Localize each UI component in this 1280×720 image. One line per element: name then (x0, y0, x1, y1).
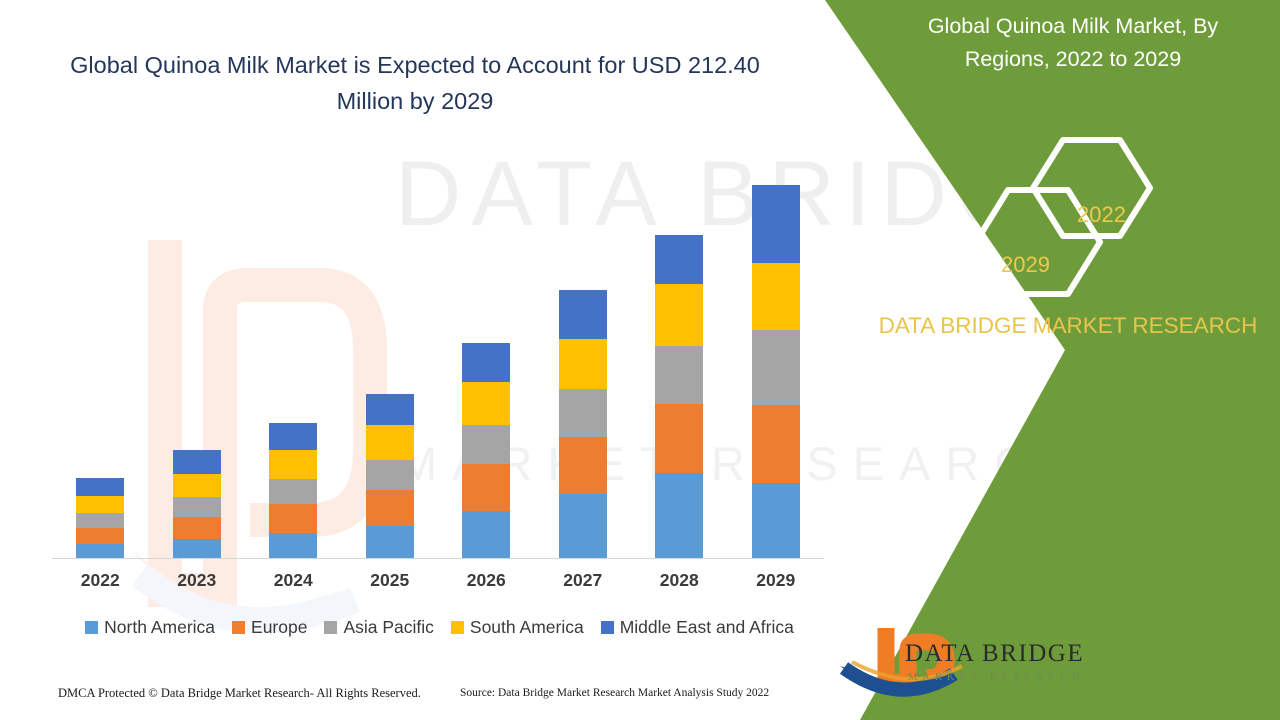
stacked-bar[interactable] (173, 450, 221, 558)
legend-swatch-icon (232, 621, 245, 634)
bar-column (52, 170, 148, 558)
bar-segment[interactable] (366, 425, 414, 460)
bar-segment[interactable] (462, 464, 510, 512)
bar-segment[interactable] (76, 496, 124, 513)
bar-segment[interactable] (462, 382, 510, 425)
page-title: Global Quinoa Milk Market is Expected to… (60, 48, 770, 119)
bar-column (149, 170, 245, 558)
bar-segment[interactable] (366, 394, 414, 425)
bar-segment[interactable] (655, 284, 703, 346)
bar-segment[interactable] (559, 494, 607, 558)
legend-label: North America (104, 617, 215, 638)
bar-segment[interactable] (752, 263, 800, 330)
bar-segment[interactable] (269, 423, 317, 450)
stacked-bar[interactable] (76, 478, 124, 558)
x-axis-label: 2028 (631, 570, 727, 591)
bar-column (438, 170, 534, 558)
legend-label: Asia Pacific (343, 617, 433, 638)
bar-segment[interactable] (173, 539, 221, 558)
chart-legend: North AmericaEuropeAsia PacificSouth Ame… (52, 617, 827, 638)
bar-segment[interactable] (173, 474, 221, 497)
bar-segment[interactable] (752, 483, 800, 558)
bar-segment[interactable] (655, 473, 703, 558)
bar-segment[interactable] (559, 389, 607, 437)
hexagon-badges: 2022 2029 (960, 130, 1180, 300)
bar-segment[interactable] (366, 460, 414, 490)
logo-tagline: MARKET RESEARCH (908, 672, 1085, 683)
hexagon-label-end: 2029 (1001, 252, 1050, 278)
bar-segment[interactable] (173, 517, 221, 539)
x-axis-label: 2026 (438, 570, 534, 591)
bar-segment[interactable] (559, 339, 607, 390)
bar-segment[interactable] (655, 235, 703, 284)
x-axis-label: 2023 (149, 570, 245, 591)
bar-segment[interactable] (76, 528, 124, 544)
bar-segment[interactable] (752, 185, 800, 263)
bar-segment[interactable] (462, 511, 510, 558)
x-axis-label: 2027 (535, 570, 631, 591)
stacked-bar[interactable] (269, 423, 317, 558)
bar-segment[interactable] (752, 405, 800, 483)
legend-swatch-icon (85, 621, 98, 634)
stacked-bar[interactable] (752, 185, 800, 558)
legend-swatch-icon (324, 621, 337, 634)
panel-title: Global Quinoa Milk Market, By Regions, 2… (888, 10, 1258, 77)
legend-item[interactable]: North America (85, 617, 215, 638)
bar-segment[interactable] (462, 343, 510, 381)
bar-segment[interactable] (366, 526, 414, 558)
source-note: Source: Data Bridge Market Research Mark… (460, 687, 769, 699)
stacked-bar[interactable] (559, 290, 607, 559)
x-axis-label: 2022 (52, 570, 148, 591)
brand-name: DATA BRIDGE MARKET RESEARCH (858, 310, 1278, 343)
x-axis-label: 2025 (342, 570, 438, 591)
legend-label: Europe (251, 617, 307, 638)
stacked-bar[interactable] (462, 343, 510, 558)
bar-segment[interactable] (76, 544, 124, 558)
chart-axis-line (52, 558, 824, 559)
bar-segment[interactable] (269, 450, 317, 479)
legend-label: South America (470, 617, 584, 638)
bar-segment[interactable] (655, 346, 703, 404)
bar-segment[interactable] (655, 404, 703, 473)
bar-segment[interactable] (173, 450, 221, 474)
bar-segment[interactable] (269, 504, 317, 533)
bar-segment[interactable] (173, 497, 221, 517)
hexagon-label-start: 2022 (1077, 202, 1126, 228)
bar-column (342, 170, 438, 558)
bar-segment[interactable] (269, 533, 317, 558)
bar-chart (52, 170, 824, 558)
bar-column (631, 170, 727, 558)
bar-segment[interactable] (76, 513, 124, 528)
stacked-bar[interactable] (366, 394, 414, 558)
bar-segment[interactable] (559, 290, 607, 339)
legend-label: Middle East and Africa (620, 617, 794, 638)
legend-item[interactable]: Europe (232, 617, 307, 638)
legend-item[interactable]: Middle East and Africa (601, 617, 794, 638)
bar-segment[interactable] (269, 479, 317, 504)
x-axis-label: 2024 (245, 570, 341, 591)
legend-swatch-icon (601, 621, 614, 634)
bar-segment[interactable] (366, 490, 414, 526)
legend-swatch-icon (451, 621, 464, 634)
legend-item[interactable]: Asia Pacific (324, 617, 433, 638)
bar-segment[interactable] (76, 478, 124, 496)
copyright-notice: DMCA Protected © Data Bridge Market Rese… (58, 686, 421, 701)
infographic-page: DATA BRIDGE MARKET RESEARCH Global Quino… (0, 0, 1280, 720)
bar-segment[interactable] (752, 330, 800, 405)
bar-segment[interactable] (559, 437, 607, 494)
x-axis-labels: 20222023202420252026202720282029 (52, 570, 824, 591)
bar-column (535, 170, 631, 558)
logo-wordmark: DATA BRIDGE (905, 640, 1084, 668)
bar-segment[interactable] (462, 425, 510, 464)
stacked-bar[interactable] (655, 235, 703, 558)
legend-item[interactable]: South America (451, 617, 584, 638)
bar-column (245, 170, 341, 558)
